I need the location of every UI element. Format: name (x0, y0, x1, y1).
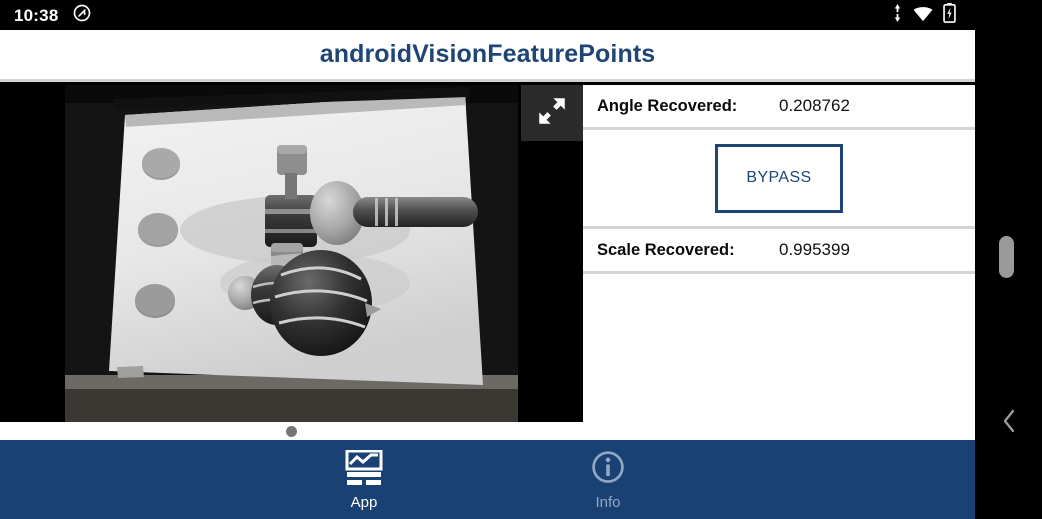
wifi-icon (912, 4, 934, 27)
status-clock: 10:38 (14, 7, 58, 24)
grayscale-scene-image (65, 85, 518, 422)
system-side-strip (975, 30, 1042, 519)
vertical-scrollbar-handle[interactable] (999, 236, 1014, 278)
fullscreen-expand-button[interactable] (521, 85, 583, 141)
data-transfer-icon (892, 4, 903, 27)
info-circle-icon (588, 450, 628, 491)
nav-tab-info-label: Info (595, 495, 620, 510)
angle-recovered-value: 0.208762 (779, 96, 850, 116)
fullscreen-expand-icon (535, 94, 569, 133)
bottom-navigation: App Info (0, 440, 975, 519)
nav-tab-info[interactable]: Info (547, 450, 669, 510)
scale-recovered-label: Scale Recovered: (597, 241, 779, 260)
nav-tab-app-label: App (351, 495, 378, 510)
camera-preview[interactable] (0, 85, 583, 422)
presentation-chart-icon (344, 450, 384, 491)
angle-recovered-label: Angle Recovered: (597, 97, 779, 116)
status-bar-left: 10:38 (0, 3, 92, 28)
preview-photo (65, 85, 518, 422)
angle-recovered-row: Angle Recovered: 0.208762 (583, 85, 975, 130)
info-panel: Angle Recovered: 0.208762 BYPASS Scale R… (583, 85, 975, 440)
device-screen: 10:38 (0, 0, 1042, 519)
status-bar-right (892, 3, 1042, 28)
app-title-bar: androidVisionFeaturePoints (0, 30, 975, 82)
status-bar: 10:38 (0, 0, 1042, 30)
page-title: androidVisionFeaturePoints (320, 40, 656, 69)
page-indicator[interactable] (0, 422, 583, 440)
bypass-button[interactable]: BYPASS (715, 144, 843, 213)
page-dot-1[interactable] (286, 426, 297, 437)
main-content: Angle Recovered: 0.208762 BYPASS Scale R… (0, 85, 975, 440)
battery-charging-icon (943, 3, 956, 28)
scale-recovered-row: Scale Recovered: 0.995399 (583, 229, 975, 274)
back-chevron-icon[interactable] (999, 408, 1019, 434)
rotation-lock-icon (72, 3, 92, 28)
bypass-row: BYPASS (583, 130, 975, 229)
nav-tab-app[interactable]: App (303, 450, 425, 510)
scale-recovered-value: 0.995399 (779, 240, 850, 260)
